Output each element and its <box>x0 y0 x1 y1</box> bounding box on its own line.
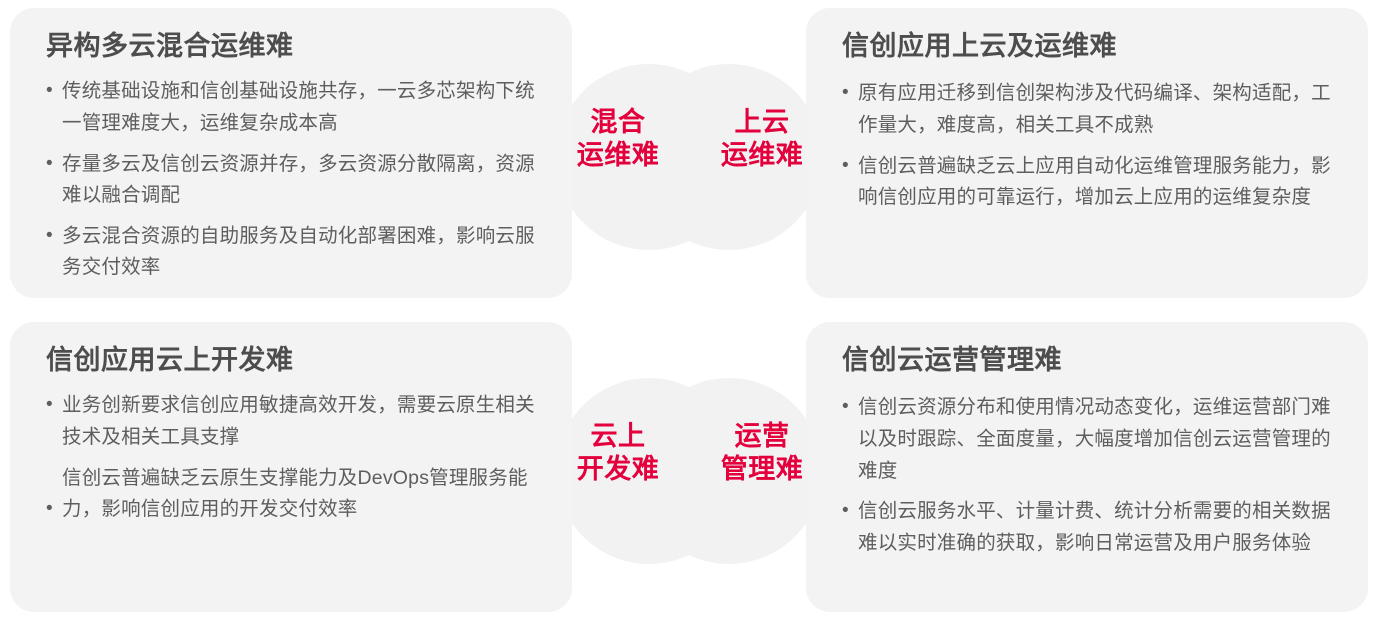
list-item-text: 多云混合资源的自助服务及自动化部署困难，影响云服务交付效率 <box>62 221 542 284</box>
venn-label-cloud-migration-ops: 上云 运维难 <box>702 106 822 172</box>
venn-label-line2: 运维难 <box>702 139 822 172</box>
bullet-dot-icon: • <box>842 392 858 423</box>
list-item: • 存量多云及信创云资源并存，多云资源分散隔离，资源难以融合调配 <box>46 149 542 212</box>
venn-label-line1: 上云 <box>735 107 790 137</box>
list-item-text: 信创云普遍缺乏云上应用自动化运维管理服务能力，影响信创应用的可靠运行，增加云上应… <box>858 151 1338 214</box>
bullet-dot-icon: • <box>46 221 62 252</box>
bullet-dot-icon: • <box>46 149 62 180</box>
list-item-text: 信创云资源分布和使用情况动态变化，运维运营部门难以及时跟踪、全面度量，大幅度增加… <box>858 392 1338 487</box>
list-item: • 信创云资源分布和使用情况动态变化，运维运营部门难以及时跟踪、全面度量，大幅度… <box>842 392 1338 487</box>
venn-label-line2: 运维难 <box>558 139 678 172</box>
venn-label-line1: 混合 <box>591 107 646 137</box>
list-item-text: 信创云普遍缺乏云原生支撑能力及DevOps管理服务能力，影响信创应用的开发交付效… <box>62 463 542 526</box>
venn-label-line1: 云上 <box>591 421 646 451</box>
bullet-dot-icon: • <box>46 463 62 525</box>
list-item: • 原有应用迁移到信创架构涉及代码编译、架构适配，工作量大，难度高，相关工具不成… <box>842 78 1338 141</box>
venn-label-cloud-development: 云上 开发难 <box>558 420 678 486</box>
venn-label-hybrid-ops: 混合 运维难 <box>558 106 678 172</box>
bullet-dot-icon: • <box>842 151 858 182</box>
bullet-dot-icon: • <box>46 76 62 107</box>
list-item-text: 原有应用迁移到信创架构涉及代码编译、架构适配，工作量大，难度高，相关工具不成熟 <box>858 78 1338 141</box>
list-item: • 信创云普遍缺乏云原生支撑能力及DevOps管理服务能力，影响信创应用的开发交… <box>46 463 542 526</box>
list-item: • 多云混合资源的自助服务及自动化部署困难，影响云服务交付效率 <box>46 221 542 284</box>
list-item: • 信创云普遍缺乏云上应用自动化运维管理服务能力，影响信创应用的可靠运行，增加云… <box>842 151 1338 214</box>
list-item: • 业务创新要求信创应用敏捷高效开发，需要云原生相关技术及相关工具支撑 <box>46 390 542 453</box>
venn-label-line2: 开发难 <box>558 453 678 486</box>
card-cloud-operations-management: 信创云运营管理难 • 信创云资源分布和使用情况动态变化，运维运营部门难以及时跟踪… <box>806 322 1368 612</box>
card-hybrid-multicloud-ops: 异构多云混合运维难 • 传统基础设施和信创基础设施共存，一云多芯架构下统一管理难… <box>10 8 572 298</box>
infographic-canvas: 混合 运维难 上云 运维难 云上 开发难 运营 管理难 异构多云混合运维难 • … <box>0 0 1378 620</box>
list-item-text: 传统基础设施和信创基础设施共存，一云多芯架构下统一管理难度大，运维复杂成本高 <box>62 76 542 139</box>
bullet-list: • 传统基础设施和信创基础设施共存，一云多芯架构下统一管理难度大，运维复杂成本高… <box>46 76 542 283</box>
bullet-dot-icon: • <box>46 390 62 421</box>
card-title: 信创应用上云及运维难 <box>842 30 1338 62</box>
venn-label-line1: 运营 <box>735 421 790 451</box>
bullet-list: • 原有应用迁移到信创架构涉及代码编译、架构适配，工作量大，难度高，相关工具不成… <box>842 78 1338 213</box>
venn-diagram-top: 混合 运维难 上云 运维难 <box>556 64 822 250</box>
list-item-text: 存量多云及信创云资源并存，多云资源分散隔离，资源难以融合调配 <box>62 149 542 212</box>
list-item: • 信创云服务水平、计量计费、统计分析需要的相关数据难以实时准确的获取，影响日常… <box>842 496 1338 559</box>
bullet-list: • 业务创新要求信创应用敏捷高效开发，需要云原生相关技术及相关工具支撑 • 信创… <box>46 390 542 525</box>
venn-diagram-bottom: 云上 开发难 运营 管理难 <box>556 378 822 564</box>
bullet-list: • 信创云资源分布和使用情况动态变化，运维运营部门难以及时跟踪、全面度量，大幅度… <box>842 392 1338 559</box>
list-item-text: 业务创新要求信创应用敏捷高效开发，需要云原生相关技术及相关工具支撑 <box>62 390 542 453</box>
list-item: • 传统基础设施和信创基础设施共存，一云多芯架构下统一管理难度大，运维复杂成本高 <box>46 76 542 139</box>
card-app-cloud-development: 信创应用云上开发难 • 业务创新要求信创应用敏捷高效开发，需要云原生相关技术及相… <box>10 322 572 612</box>
bullet-dot-icon: • <box>842 78 858 109</box>
bullet-dot-icon: • <box>842 496 858 527</box>
card-app-cloud-migration-ops: 信创应用上云及运维难 • 原有应用迁移到信创架构涉及代码编译、架构适配，工作量大… <box>806 8 1368 298</box>
venn-label-operations-management: 运营 管理难 <box>702 420 822 486</box>
card-title: 信创应用云上开发难 <box>46 344 542 376</box>
list-item-text: 信创云服务水平、计量计费、统计分析需要的相关数据难以实时准确的获取，影响日常运营… <box>858 496 1338 559</box>
card-title: 信创云运营管理难 <box>842 344 1338 376</box>
venn-label-line2: 管理难 <box>702 453 822 486</box>
card-title: 异构多云混合运维难 <box>46 30 542 62</box>
